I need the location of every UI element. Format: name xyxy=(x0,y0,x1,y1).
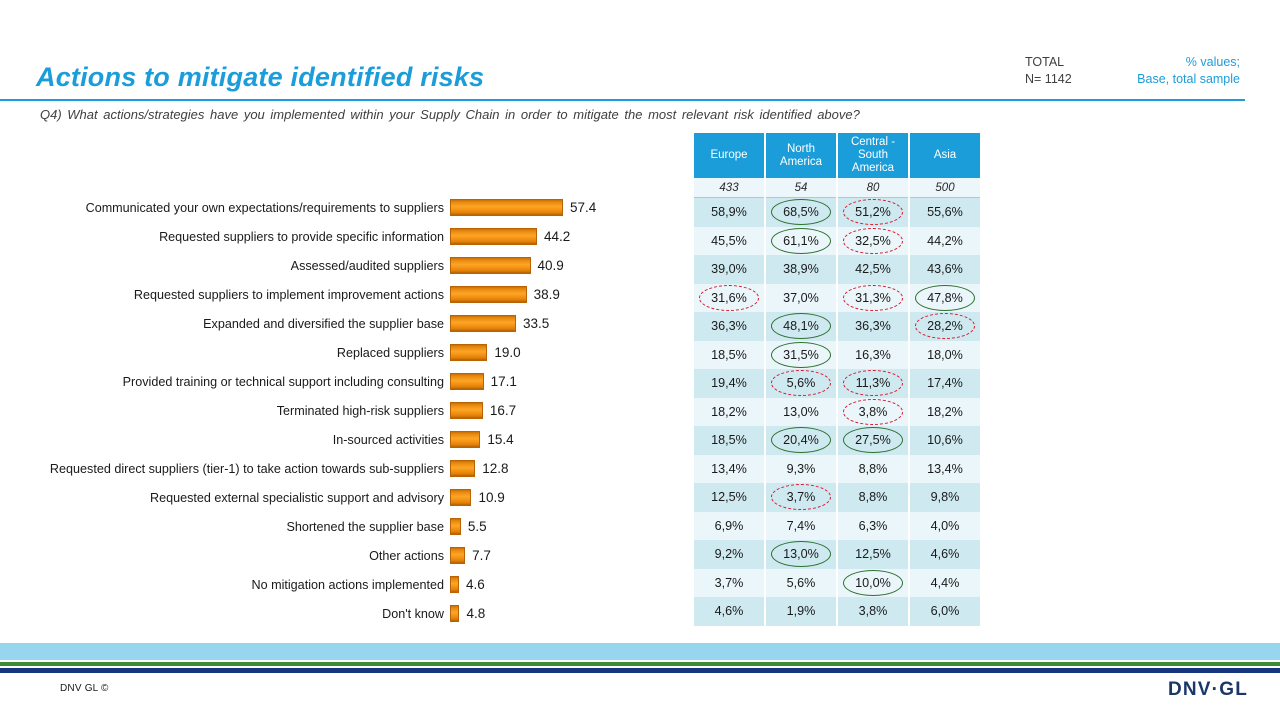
table-cell: 4,4% xyxy=(909,569,980,598)
table-cell: 44,2% xyxy=(909,227,980,256)
table-cell-value: 31,3% xyxy=(855,291,891,305)
table-cell: 3,7% xyxy=(765,483,837,512)
table-cell: 6,9% xyxy=(694,512,765,541)
table-base-row: 4335480500 xyxy=(694,178,980,198)
table-row: 36,3%48,1%36,3%28,2% xyxy=(694,312,980,341)
table-cell: 8,8% xyxy=(837,455,909,484)
table-cell: 9,3% xyxy=(765,455,837,484)
table-cell: 37,0% xyxy=(765,284,837,313)
table-column-header[interactable]: Europe xyxy=(694,133,765,178)
bar-category-label: Requested external specialistic support … xyxy=(0,491,450,505)
table-cell-value: 17,4% xyxy=(927,376,963,390)
table-cell: 13,4% xyxy=(694,455,765,484)
bar xyxy=(450,547,465,564)
table-cell-value: 8,8% xyxy=(859,462,888,476)
bar-category-label: Shortened the supplier base xyxy=(0,520,450,534)
table-cell-value: 13,0% xyxy=(783,405,819,419)
chart-row: Requested external specialistic support … xyxy=(0,483,660,512)
table-cell-value: 31,5% xyxy=(783,348,819,362)
table-cell: 3,8% xyxy=(837,597,909,626)
table-base-value: 80 xyxy=(837,178,909,198)
table-cell-value: 43,6% xyxy=(927,262,963,276)
bar-value-label: 5.5 xyxy=(461,519,487,534)
table-cell: 12,5% xyxy=(837,540,909,569)
table-cell-value: 55,6% xyxy=(927,205,963,219)
bar xyxy=(450,489,471,506)
bar-track: 38.9 xyxy=(450,286,660,303)
table-cell-value: 47,8% xyxy=(927,291,963,305)
table-cell-value: 13,0% xyxy=(783,547,819,561)
bar-track: 17.1 xyxy=(450,373,660,390)
bar xyxy=(450,286,527,303)
table-row: 18,5%31,5%16,3%18,0% xyxy=(694,341,980,370)
table-cell-value: 48,1% xyxy=(783,319,819,333)
bar-value-label: 10.9 xyxy=(471,490,504,505)
table-cell-value: 45,5% xyxy=(711,234,747,248)
bar xyxy=(450,431,480,448)
bar xyxy=(450,315,516,332)
bar-category-label: Other actions xyxy=(0,549,450,563)
table-cell: 5,6% xyxy=(765,569,837,598)
table-cell: 5,6% xyxy=(765,369,837,398)
table-cell: 10,6% xyxy=(909,426,980,455)
bar-value-label: 33.5 xyxy=(516,316,549,331)
table-cell-value: 68,5% xyxy=(783,205,819,219)
table-cell: 32,5% xyxy=(837,227,909,256)
chart-row: No mitigation actions implemented4.6 xyxy=(0,570,660,599)
table-row: 18,2%13,0%3,8%18,2% xyxy=(694,398,980,427)
bar xyxy=(450,576,459,593)
footer-band-green xyxy=(0,662,1280,666)
bar-value-label: 12.8 xyxy=(475,461,508,476)
table-cell: 3,8% xyxy=(837,398,909,427)
table-cell-value: 5,6% xyxy=(787,576,816,590)
bar-category-label: Replaced suppliers xyxy=(0,346,450,360)
table-cell-value: 37,0% xyxy=(783,291,819,305)
table-cell: 19,4% xyxy=(694,369,765,398)
table-row: 58,9%68,5%51,2%55,6% xyxy=(694,198,980,227)
table-row: 13,4%9,3%8,8%13,4% xyxy=(694,455,980,484)
table-cell-value: 16,3% xyxy=(855,348,891,362)
bar-value-label: 38.9 xyxy=(527,287,560,302)
table-row: 39,0%38,9%42,5%43,6% xyxy=(694,255,980,284)
table-cell-value: 8,8% xyxy=(859,490,888,504)
table-column-header[interactable]: Asia xyxy=(909,133,980,178)
table-body: 58,9%68,5%51,2%55,6%45,5%61,1%32,5%44,2%… xyxy=(694,198,980,626)
table-cell: 13,0% xyxy=(765,398,837,427)
total-base-info: TOTAL N= 1142 xyxy=(1025,54,1072,88)
table-row: 19,4%5,6%11,3%17,4% xyxy=(694,369,980,398)
bar xyxy=(450,257,531,274)
table-cell: 13,0% xyxy=(765,540,837,569)
table-cell: 18,5% xyxy=(694,341,765,370)
bar-track: 10.9 xyxy=(450,489,660,506)
table-column-header[interactable]: North America xyxy=(765,133,837,178)
table-cell-value: 3,8% xyxy=(859,405,888,419)
table-cell-value: 18,2% xyxy=(927,405,963,419)
table-cell: 45,5% xyxy=(694,227,765,256)
chart-row: Provided training or technical support i… xyxy=(0,367,660,396)
bar-track: 44.2 xyxy=(450,228,660,245)
copyright-text: DNV GL © xyxy=(60,683,109,694)
table-cell-value: 7,4% xyxy=(787,519,816,533)
table-cell-value: 3,8% xyxy=(859,604,888,618)
bar xyxy=(450,402,483,419)
values-note: % values; Base, total sample xyxy=(1110,54,1240,88)
table-cell: 4,6% xyxy=(694,597,765,626)
bar-value-label: 44.2 xyxy=(537,229,570,244)
table-cell-value: 1,9% xyxy=(787,604,816,618)
table-header-row: EuropeNorth AmericaCentral - South Ameri… xyxy=(694,133,980,178)
values-note-line1: % values; xyxy=(1110,54,1240,71)
table-cell-value: 4,4% xyxy=(931,576,960,590)
table-cell: 8,8% xyxy=(837,483,909,512)
table-cell: 13,4% xyxy=(909,455,980,484)
table-row: 3,7%5,6%10,0%4,4% xyxy=(694,569,980,598)
bar-category-label: Communicated your own expectations/requi… xyxy=(0,201,450,215)
table-cell: 36,3% xyxy=(837,312,909,341)
page-title: Actions to mitigate identified risks xyxy=(36,62,484,93)
table-cell-value: 58,9% xyxy=(711,205,747,219)
table-cell: 10,0% xyxy=(837,569,909,598)
table-cell-value: 36,3% xyxy=(855,319,891,333)
table-cell-value: 19,4% xyxy=(711,376,747,390)
table-cell: 38,9% xyxy=(765,255,837,284)
table-cell: 39,0% xyxy=(694,255,765,284)
table-cell: 20,4% xyxy=(765,426,837,455)
table-cell: 9,2% xyxy=(694,540,765,569)
bar-value-label: 7.7 xyxy=(465,548,491,563)
table-cell-value: 20,4% xyxy=(783,433,819,447)
table-cell-value: 36,3% xyxy=(711,319,747,333)
table-cell-value: 13,4% xyxy=(927,462,963,476)
bar-category-label: Provided training or technical support i… xyxy=(0,375,450,389)
chart-row: Requested suppliers to implement improve… xyxy=(0,280,660,309)
table-base-value: 54 xyxy=(765,178,837,198)
table-cell: 4,0% xyxy=(909,512,980,541)
table-cell-value: 27,5% xyxy=(855,433,891,447)
table-row: 4,6%1,9%3,8%6,0% xyxy=(694,597,980,626)
table-cell: 55,6% xyxy=(909,198,980,227)
table-row: 12,5%3,7%8,8%9,8% xyxy=(694,483,980,512)
table-cell-value: 3,7% xyxy=(715,576,744,590)
table-cell-value: 6,9% xyxy=(715,519,744,533)
bar-category-label: No mitigation actions implemented xyxy=(0,578,450,592)
footer-band-navy xyxy=(0,668,1280,673)
table-cell: 18,2% xyxy=(909,398,980,427)
bar-track: 57.4 xyxy=(450,199,660,216)
table-cell: 58,9% xyxy=(694,198,765,227)
table-cell: 68,5% xyxy=(765,198,837,227)
table-cell-value: 11,3% xyxy=(856,376,891,390)
bar-category-label: Requested direct suppliers (tier-1) to t… xyxy=(0,462,450,476)
bar-category-label: In-sourced activities xyxy=(0,433,450,447)
table-cell-value: 32,5% xyxy=(855,234,891,248)
table-cell-value: 42,5% xyxy=(855,262,891,276)
table-cell: 6,0% xyxy=(909,597,980,626)
table-base-value: 433 xyxy=(694,178,765,198)
bar-track: 16.7 xyxy=(450,402,660,419)
table-cell: 4,6% xyxy=(909,540,980,569)
table-cell-value: 12,5% xyxy=(711,490,747,504)
bar-category-label: Requested suppliers to implement improve… xyxy=(0,288,450,302)
bar xyxy=(450,605,459,622)
bar-track: 12.8 xyxy=(450,460,660,477)
dnvgl-logo: DNV·GL xyxy=(1168,679,1248,701)
table-cell: 36,3% xyxy=(694,312,765,341)
bar-value-label: 19.0 xyxy=(487,345,520,360)
bar xyxy=(450,344,487,361)
slide-canvas: Actions to mitigate identified risks TOT… xyxy=(0,0,1280,720)
table-cell-value: 13,4% xyxy=(711,462,747,476)
table-cell: 17,4% xyxy=(909,369,980,398)
bar-category-label: Requested suppliers to provide specific … xyxy=(0,230,450,244)
table-row: 45,5%61,1%32,5%44,2% xyxy=(694,227,980,256)
chart-row: Replaced suppliers19.0 xyxy=(0,338,660,367)
table-cell: 31,6% xyxy=(694,284,765,313)
table-cell: 27,5% xyxy=(837,426,909,455)
bar-value-label: 16.7 xyxy=(483,403,516,418)
table-row: 9,2%13,0%12,5%4,6% xyxy=(694,540,980,569)
bar-value-label: 4.6 xyxy=(459,577,485,592)
table-cell-value: 9,8% xyxy=(931,490,960,504)
chart-row: Don't know4.8 xyxy=(0,599,660,628)
table-cell-value: 5,6% xyxy=(787,376,816,390)
bar-value-label: 40.9 xyxy=(531,258,564,273)
bar xyxy=(450,199,563,216)
bar-track: 4.6 xyxy=(450,576,660,593)
chart-row: Other actions7.7 xyxy=(0,541,660,570)
bar-track: 4.8 xyxy=(450,605,660,622)
bar xyxy=(450,373,484,390)
chart-row: Requested suppliers to provide specific … xyxy=(0,222,660,251)
chart-row: Assessed/audited suppliers40.9 xyxy=(0,251,660,280)
table-cell: 7,4% xyxy=(765,512,837,541)
chart-row: Requested direct suppliers (tier-1) to t… xyxy=(0,454,660,483)
table-cell: 16,3% xyxy=(837,341,909,370)
table-cell: 1,9% xyxy=(765,597,837,626)
table-cell-value: 4,6% xyxy=(715,604,744,618)
bar-category-label: Expanded and diversified the supplier ba… xyxy=(0,317,450,331)
table-cell-value: 18,2% xyxy=(711,405,747,419)
bar-value-label: 15.4 xyxy=(480,432,513,447)
table-cell: 9,8% xyxy=(909,483,980,512)
table-cell: 18,2% xyxy=(694,398,765,427)
table-cell: 61,1% xyxy=(765,227,837,256)
bar-value-label: 17.1 xyxy=(484,374,517,389)
table-cell-value: 10,0% xyxy=(855,576,891,590)
table-cell: 12,5% xyxy=(694,483,765,512)
bar-track: 15.4 xyxy=(450,431,660,448)
table-cell-value: 10,6% xyxy=(927,433,963,447)
table-cell-value: 6,0% xyxy=(931,604,960,618)
table-cell: 18,5% xyxy=(694,426,765,455)
horizontal-bar-chart: Communicated your own expectations/requi… xyxy=(0,193,660,628)
table-cell: 31,3% xyxy=(837,284,909,313)
bar-track: 40.9 xyxy=(450,257,660,274)
question-text: Q4) What actions/strategies have you imp… xyxy=(40,107,860,122)
table-cell: 43,6% xyxy=(909,255,980,284)
table-cell: 11,3% xyxy=(837,369,909,398)
table-cell: 48,1% xyxy=(765,312,837,341)
table-cell: 3,7% xyxy=(694,569,765,598)
table-cell-value: 12,5% xyxy=(855,547,891,561)
chart-row: Shortened the supplier base5.5 xyxy=(0,512,660,541)
table-cell: 18,0% xyxy=(909,341,980,370)
bar-value-label: 4.8 xyxy=(459,606,485,621)
table-head: EuropeNorth AmericaCentral - South Ameri… xyxy=(694,133,980,198)
chart-row: In-sourced activities15.4 xyxy=(0,425,660,454)
table-cell-value: 38,9% xyxy=(783,262,819,276)
table-column-header[interactable]: Central - South America xyxy=(837,133,909,178)
chart-row: Terminated high-risk suppliers16.7 xyxy=(0,396,660,425)
table-cell: 42,5% xyxy=(837,255,909,284)
table-cell-value: 4,0% xyxy=(931,519,960,533)
table-base-value: 500 xyxy=(909,178,980,198)
table-cell-value: 4,6% xyxy=(931,547,960,561)
footer-band-blue xyxy=(0,643,1280,660)
title-divider xyxy=(0,99,1245,101)
table-cell-value: 39,0% xyxy=(711,262,747,276)
table-cell-value: 9,2% xyxy=(715,547,744,561)
total-label: TOTAL xyxy=(1025,54,1072,71)
table-cell: 51,2% xyxy=(837,198,909,227)
table-row: 31,6%37,0%31,3%47,8% xyxy=(694,284,980,313)
chart-row: Communicated your own expectations/requi… xyxy=(0,193,660,222)
bar-category-label: Assessed/audited suppliers xyxy=(0,259,450,273)
values-note-line2: Base, total sample xyxy=(1110,71,1240,88)
total-n-value: N= 1142 xyxy=(1025,71,1072,88)
bar-value-label: 57.4 xyxy=(563,200,596,215)
bar-track: 5.5 xyxy=(450,518,660,535)
table-cell: 31,5% xyxy=(765,341,837,370)
table-cell-value: 61,1% xyxy=(783,234,819,248)
chart-row: Expanded and diversified the supplier ba… xyxy=(0,309,660,338)
table-cell-value: 3,7% xyxy=(787,490,816,504)
table-cell-value: 9,3% xyxy=(787,462,816,476)
table-cell-value: 18,5% xyxy=(711,433,747,447)
table-cell-value: 18,5% xyxy=(711,348,747,362)
bar xyxy=(450,518,461,535)
table-cell-value: 6,3% xyxy=(859,519,888,533)
regional-breakdown-table: EuropeNorth AmericaCentral - South Ameri… xyxy=(694,133,980,626)
bar-track: 19.0 xyxy=(450,344,660,361)
bar xyxy=(450,228,537,245)
bar-category-label: Terminated high-risk suppliers xyxy=(0,404,450,418)
bar xyxy=(450,460,475,477)
table-cell: 6,3% xyxy=(837,512,909,541)
bar-category-label: Don't know xyxy=(0,607,450,621)
table-cell-value: 28,2% xyxy=(927,319,963,333)
table-cell-value: 18,0% xyxy=(927,348,963,362)
table-cell-value: 51,2% xyxy=(855,205,891,219)
table-cell: 28,2% xyxy=(909,312,980,341)
table-cell-value: 44,2% xyxy=(927,234,963,248)
bar-track: 33.5 xyxy=(450,315,660,332)
table-row: 6,9%7,4%6,3%4,0% xyxy=(694,512,980,541)
table-cell: 47,8% xyxy=(909,284,980,313)
bar-track: 7.7 xyxy=(450,547,660,564)
table-row: 18,5%20,4%27,5%10,6% xyxy=(694,426,980,455)
table-cell-value: 31,6% xyxy=(711,291,747,305)
